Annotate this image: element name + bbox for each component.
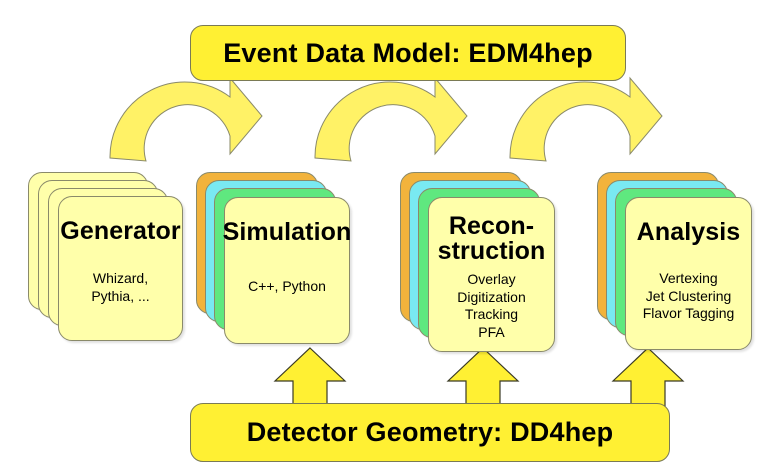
stage-details-simulation: C++, Python	[248, 278, 326, 296]
stage-generator[interactable]: Generator Whizard, Pythia, ...	[28, 172, 186, 344]
detail-line: Flavor Tagging	[643, 305, 735, 323]
stage-card-reconstruction[interactable]: Recon- struction Overlay Digitization Tr…	[428, 197, 555, 352]
stage-details-analysis: Vertexing Jet Clustering Flavor Tagging	[643, 270, 735, 323]
stage-title-reconstruction: Recon- struction	[438, 214, 546, 264]
detail-line: Vertexing	[643, 270, 735, 288]
stage-simulation[interactable]: Simulation C++, Python	[196, 172, 354, 344]
stage-title-line: Recon-	[438, 214, 546, 239]
stage-details-reconstruction: Overlay Digitization Tracking PFA	[457, 271, 525, 342]
stage-card-simulation[interactable]: Simulation C++, Python	[224, 197, 350, 344]
stage-title-simulation: Simulation	[223, 220, 352, 245]
stage-title-analysis: Analysis	[637, 220, 741, 245]
detail-line: Jet Clustering	[643, 288, 735, 306]
diagram-canvas: Event Data Model: EDM4hep Generator Whiz…	[0, 0, 764, 472]
detail-line: PFA	[457, 324, 525, 342]
detail-line: Pythia, ...	[91, 288, 149, 306]
detail-line: Whizard,	[91, 270, 149, 288]
stage-details-generator: Whizard, Pythia, ...	[91, 270, 149, 305]
stage-card-analysis[interactable]: Analysis Vertexing Jet Clustering Flavor…	[625, 197, 752, 350]
stage-title-generator: Generator	[60, 219, 180, 244]
event-data-model-banner: Event Data Model: EDM4hep	[190, 25, 626, 81]
detail-line: Tracking	[457, 306, 525, 324]
detector-geometry-banner: Detector Geometry: DD4hep	[190, 403, 670, 462]
detail-line: Digitization	[457, 289, 525, 307]
stage-analysis[interactable]: Analysis Vertexing Jet Clustering Flavor…	[597, 172, 757, 352]
detail-line: C++, Python	[248, 278, 326, 296]
stage-card-generator[interactable]: Generator Whizard, Pythia, ...	[58, 196, 183, 341]
stage-reconstruction[interactable]: Recon- struction Overlay Digitization Tr…	[400, 172, 560, 352]
stage-title-line: struction	[438, 239, 546, 264]
detail-line: Overlay	[457, 271, 525, 289]
